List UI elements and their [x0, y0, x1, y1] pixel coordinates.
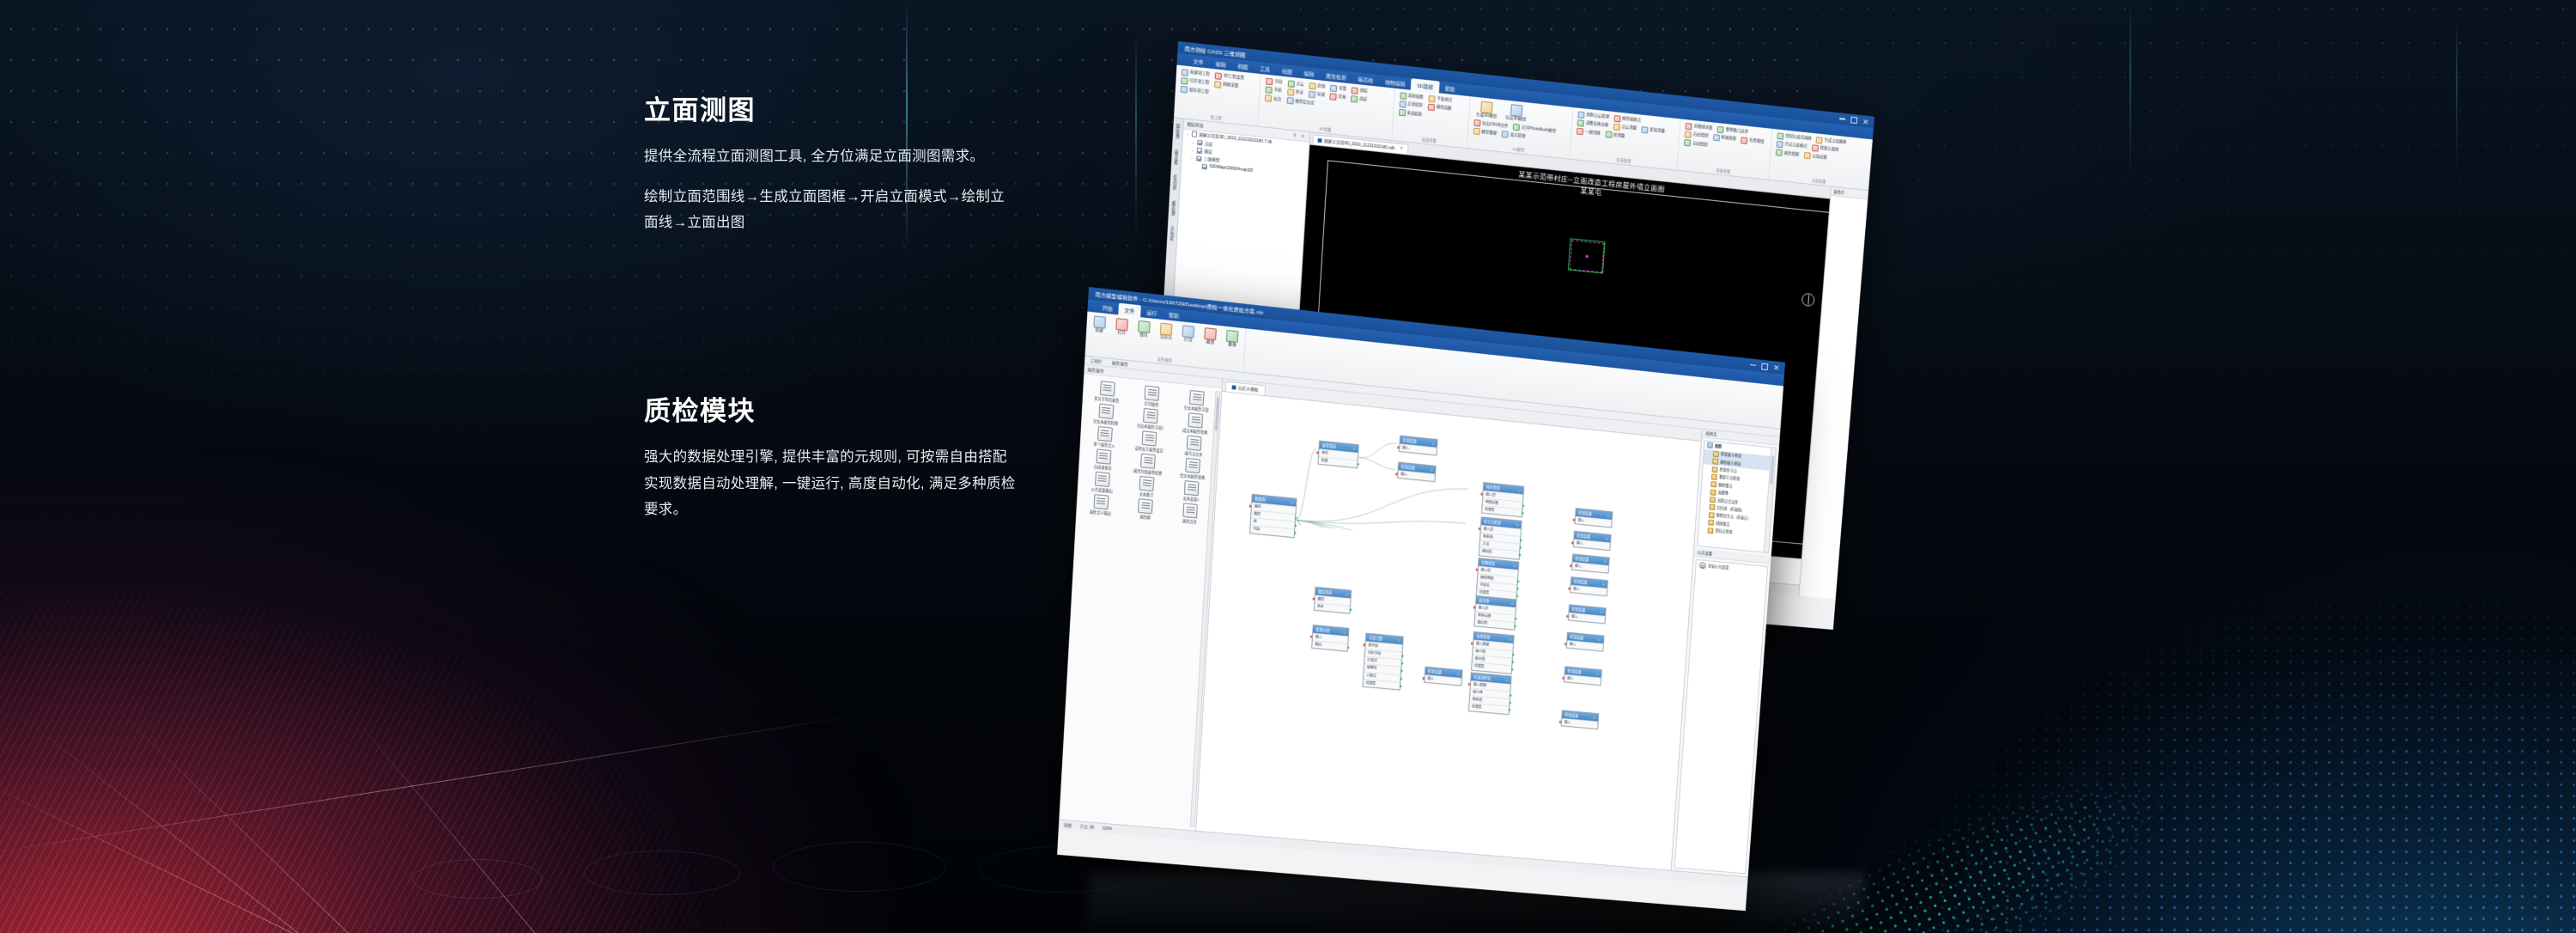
- input-port[interactable]: [1564, 643, 1567, 646]
- output-port[interactable]: [1511, 668, 1514, 672]
- flow-node-n20[interactable]: 检查结果◇输入: [1564, 667, 1602, 686]
- ribbon-item-打印[interactable]: 打印: [1180, 324, 1198, 345]
- tool-icon: [1185, 458, 1200, 473]
- flow-node-n12[interactable]: 字段计算◇源字段目标字段计算式取整项小数位结果集: [1363, 633, 1404, 691]
- checkbox[interactable]: [1196, 148, 1202, 154]
- flow-node-n16[interactable]: 检查结果◇输入: [1571, 554, 1610, 574]
- flow-node-n18[interactable]: 检查结果◇输入: [1568, 605, 1607, 625]
- item-icon: [1428, 95, 1435, 102]
- pin-close-icons[interactable]: ⚲ ✕: [1293, 132, 1306, 138]
- flow-node-n0[interactable]: 数据源◇路径图层表字段: [1249, 494, 1297, 538]
- node-collapse-icon[interactable]: ◇: [1598, 637, 1601, 642]
- rule-label: 删除重点: [1718, 483, 1732, 489]
- tool-icon: [1184, 480, 1200, 496]
- tool-label: 分文本属性字段1: [1137, 424, 1164, 430]
- node-collapse-icon[interactable]: ◇: [1593, 716, 1595, 720]
- qc-tool-panel[interactable]: 属性操作 区分字符名属性打印属性分文本属性字段分文本属性转换分文本属性字段1成文…: [1059, 364, 1223, 830]
- tool-属性合并[interactable]: 属性合并: [1167, 502, 1212, 526]
- item-icon: [1181, 86, 1188, 94]
- tool-多个属性合入[interactable]: 多个属性合入: [1082, 424, 1128, 449]
- input-port[interactable]: [1422, 677, 1425, 680]
- output-port[interactable]: [1522, 512, 1524, 515]
- ribbon-item-布置重绘[interactable]: 布置重绘: [1740, 137, 1765, 147]
- output-port[interactable]: [1295, 516, 1297, 520]
- ribbon-item-面层[interactable]: 面层: [1350, 95, 1368, 104]
- tool-自动更新名[interactable]: 自动更新名: [1080, 448, 1127, 473]
- output-port[interactable]: [1512, 653, 1515, 656]
- item-icon: [1329, 93, 1336, 101]
- ribbon-item-新建[interactable]: 新建: [1091, 314, 1109, 335]
- node-collapse-icon[interactable]: ◇: [1516, 522, 1518, 527]
- ribbon-item-label: 多面投影: [1406, 111, 1422, 116]
- item-icon: [1286, 97, 1293, 105]
- output-port[interactable]: [1400, 677, 1403, 680]
- node-collapse-icon[interactable]: ◇: [1397, 638, 1400, 643]
- ribbon-item-label: 打印: [1184, 338, 1193, 344]
- tool-label: 属性定义输出: [1090, 510, 1111, 516]
- close-icon[interactable]: ✕: [1400, 146, 1403, 151]
- flow-node-title: 面重叠: [1479, 598, 1489, 604]
- item-icon: [1686, 123, 1692, 130]
- item-icon: [1804, 152, 1811, 159]
- item-icon: [1160, 323, 1173, 336]
- cad-layer-panel-title: 图层列表: [1187, 121, 1203, 129]
- tool-label: 属性合并: [1182, 519, 1197, 524]
- ribbon-item-label: 模型定位库: [1295, 100, 1315, 106]
- chevron-down-icon[interactable]: ⌄: [1190, 155, 1194, 160]
- input-port[interactable]: [1480, 492, 1483, 496]
- node-collapse-icon[interactable]: ◇: [1513, 564, 1516, 568]
- ribbon-item-网络采集[interactable]: 网络采集: [1213, 80, 1240, 90]
- tool-编号点合并[interactable]: 编号点合并: [1171, 434, 1217, 459]
- item-icon: [1613, 115, 1620, 123]
- qc-tool-grid[interactable]: 区分字符名属性打印属性分文本属性字段分文本属性转换分文本属性字段1成文本属性转换…: [1059, 374, 1221, 830]
- tool-label: 区分字符名属性: [1094, 396, 1119, 403]
- ribbon-item-属性绘图[interactable]: 属性绘图: [1775, 149, 1800, 159]
- ribbon-item-label: 采集: [1339, 87, 1346, 91]
- close-icon[interactable]: [1862, 119, 1868, 125]
- node-collapse-icon[interactable]: ◇: [1352, 447, 1355, 451]
- node-collapse-icon[interactable]: ◇: [1291, 500, 1293, 504]
- ribbon-item-显示管理[interactable]: 显示管理: [1501, 131, 1527, 141]
- node-collapse-icon[interactable]: ◇: [1343, 630, 1346, 634]
- ribbon-item-label: 重置檐口边界: [1725, 128, 1747, 134]
- output-port[interactable]: [1510, 701, 1512, 704]
- view-navigator-icon[interactable]: [1801, 292, 1815, 307]
- ribbon-item-距离测量[interactable]: 距离测量: [1641, 125, 1667, 136]
- ribbon-item-label: 导线: [1317, 93, 1325, 97]
- tool-文本数字[interactable]: 文本数字: [1124, 475, 1170, 500]
- feature-block-elevation: 立面测图 提供全流程立面测图工具, 全方位满足立面测图需求。 绘制立面范围线→生…: [644, 95, 1018, 236]
- item-icon: [1510, 104, 1522, 117]
- input-port[interactable]: [1473, 606, 1476, 609]
- roof-plan-shape[interactable]: [1569, 240, 1604, 272]
- ribbon-item-附属轮廓[interactable]: 附属轮廓: [1712, 133, 1737, 143]
- mesh-ring: [412, 859, 543, 899]
- flow-node-n13[interactable]: 检查结果◇输入: [1424, 667, 1462, 686]
- rule-label: 线线相交: [1716, 521, 1729, 527]
- rule-icon: [1709, 512, 1715, 518]
- tool-icon: [1098, 404, 1114, 419]
- ribbon-item-label: 重做: [1228, 343, 1236, 348]
- output-port[interactable]: [1520, 546, 1522, 550]
- ribbon-item-label: 正射投影: [1407, 103, 1423, 108]
- status-item[interactable]: 100%: [1103, 826, 1113, 832]
- input-port[interactable]: [1476, 568, 1479, 571]
- feature-block-quality: 质检模块 强大的数据处理引擎, 提供丰富的元规则, 可按需自由搭配实现数据自动处…: [644, 395, 1018, 523]
- maximize-icon[interactable]: [1850, 117, 1857, 124]
- ribbon-item-label: 标注: [1273, 97, 1281, 101]
- tool-icon: [1096, 449, 1111, 465]
- item-icon: [1812, 144, 1819, 151]
- node-collapse-icon[interactable]: ◇: [1431, 441, 1434, 445]
- output-port[interactable]: [1517, 580, 1520, 583]
- tool-icon: [1182, 503, 1198, 519]
- node-collapse-icon[interactable]: ◇: [1601, 610, 1603, 614]
- tool-label: 属性刷: [1139, 515, 1151, 520]
- item-icon: [1266, 77, 1273, 85]
- mesh-ring: [584, 851, 740, 895]
- node-collapse-icon[interactable]: ◇: [1605, 536, 1607, 540]
- item-icon: [1777, 132, 1784, 139]
- checkbox[interactable]: [1191, 131, 1197, 137]
- ribbon-item-label: 开启立面模式: [1784, 143, 1807, 149]
- tool-label: 属性分类属性转换: [1133, 469, 1162, 476]
- chevron-down-icon[interactable]: ⌄: [1191, 148, 1194, 152]
- flow-node-n19[interactable]: 检查结果◇输入: [1566, 632, 1605, 652]
- ribbon-item-label: 导出OSGB文件: [1482, 122, 1509, 129]
- item-icon: [1513, 124, 1520, 131]
- status-item[interactable]: 节点: 28: [1080, 824, 1095, 830]
- output-port[interactable]: [1515, 617, 1517, 620]
- ribbon-item-label: 打开项工程: [1189, 79, 1209, 85]
- ribbon-item-label: 打开: [1117, 332, 1126, 337]
- output-port[interactable]: [1514, 625, 1516, 628]
- ribbon-item-模型重建[interactable]: 模型重建: [1472, 127, 1498, 137]
- node-collapse-icon[interactable]: ◇: [1604, 559, 1607, 564]
- output-port[interactable]: [1347, 646, 1350, 649]
- tool-icon: [1141, 454, 1157, 469]
- flow-node-n17[interactable]: 检查结果◇输入: [1570, 576, 1608, 596]
- ribbon-item-label: 自动绘制: [1692, 142, 1708, 147]
- output-port[interactable]: [1400, 669, 1403, 673]
- input-port[interactable]: [1566, 614, 1569, 618]
- flow-node-n14[interactable]: 检查结果◇输入: [1575, 508, 1613, 527]
- node-collapse-icon[interactable]: ◇: [1346, 592, 1348, 596]
- flow-node-n5[interactable]: 伪节点检查◇输入层容差值方法输出层: [1479, 517, 1522, 560]
- item-icon: [1400, 92, 1406, 100]
- ribbon-item-模型面数[interactable]: 模型面数: [1427, 103, 1453, 113]
- output-port[interactable]: [1401, 662, 1404, 665]
- item-icon: [1138, 320, 1151, 333]
- output-port[interactable]: [1401, 655, 1404, 658]
- tool-文本变量1[interactable]: 文本变量1: [1169, 479, 1214, 503]
- rule-icon: [1712, 459, 1718, 465]
- item-icon: [1816, 137, 1823, 143]
- output-port[interactable]: [1519, 553, 1522, 557]
- item-icon: [1428, 103, 1435, 111]
- node-collapse-icon[interactable]: ◇: [1430, 467, 1432, 472]
- ribbon-item-多面投影[interactable]: 多面投影: [1398, 108, 1424, 119]
- page-title: 立面测图: [644, 95, 1018, 126]
- item-icon: [1684, 139, 1691, 146]
- flow-node-n10[interactable]: 图层筛选◇图层条件: [1314, 587, 1352, 614]
- rule-icon: [1710, 497, 1716, 503]
- cad-vtab-任务列表[interactable]: 任务列表: [1172, 174, 1178, 190]
- input-port[interactable]: [1397, 446, 1400, 449]
- item-icon: [1577, 128, 1583, 136]
- output-port[interactable]: [1512, 661, 1515, 664]
- input-port[interactable]: [1568, 587, 1571, 590]
- output-port[interactable]: [1516, 587, 1519, 590]
- input-port[interactable]: [1363, 643, 1365, 647]
- flow-node-n15[interactable]: 检查结果◇输入: [1573, 531, 1612, 551]
- feature-description: 强大的数据处理引擎, 提供丰富的元规则, 可按需自由搭配实现数据自动处理解, 一…: [644, 444, 1018, 523]
- tool-分文本属性字段[interactable]: 分文本属性字段: [1174, 388, 1219, 413]
- flow-node-n6[interactable]: 重叠检查◇输入层面积阈值字段名结果集: [1476, 558, 1520, 601]
- input-port[interactable]: [1571, 541, 1574, 545]
- node-collapse-icon[interactable]: ◇: [1456, 672, 1459, 676]
- tool-icon: [1142, 431, 1157, 447]
- ribbon-item-修测量[interactable]: 修测量: [1604, 131, 1625, 140]
- item-icon: [1309, 82, 1315, 90]
- item-icon: [1399, 109, 1406, 117]
- flow-node-n4[interactable]: 拓扑检查◇输入层阈值设置结果集: [1481, 482, 1524, 517]
- tree-node-label: 线层: [1204, 148, 1212, 155]
- tool-label: 文本数字: [1139, 492, 1154, 498]
- input-port[interactable]: [1310, 635, 1313, 638]
- ribbon-item-label: 保存: [1139, 333, 1148, 338]
- flow-node-n1[interactable]: 属性筛选◇条件结果: [1317, 441, 1358, 469]
- ribbon-item-label: 立面出图: [1812, 154, 1827, 159]
- ribbon-item-重做[interactable]: 重做: [1224, 329, 1242, 350]
- checkbox[interactable]: [1197, 140, 1203, 146]
- tool-icon: [1188, 413, 1204, 429]
- flow-node-n8[interactable]: 高程检查◇输入数据最小值最大值结果集: [1471, 631, 1515, 674]
- node-collapse-icon[interactable]: ◇: [1508, 637, 1510, 642]
- node-collapse-icon[interactable]: ◇: [1510, 601, 1513, 606]
- ribbon-item-label: 布置重绘: [1749, 139, 1765, 144]
- tool-属性分类属性转换[interactable]: 属性分类属性转换: [1125, 452, 1170, 477]
- input-port[interactable]: [1395, 473, 1398, 476]
- ribbon-item-label: 面层: [1359, 98, 1367, 102]
- status-item[interactable]: 就绪: [1064, 822, 1072, 827]
- ribbon-group-项工程: 新建项工程3D工程设置打开项工程网络采集保存项工程项工程: [1174, 65, 1261, 126]
- minimize-icon[interactable]: [1750, 364, 1756, 366]
- node-collapse-icon[interactable]: ◇: [1596, 672, 1599, 676]
- output-port[interactable]: [1510, 694, 1512, 698]
- ribbon-item-label: 模型编辑点: [1622, 117, 1641, 123]
- output-port[interactable]: [1522, 504, 1525, 508]
- background-streak: [2129, 0, 2131, 180]
- ribbon-item-label: 新建: [1095, 329, 1103, 334]
- tool-公共变量输出[interactable]: 公共变量输出: [1079, 470, 1126, 495]
- qc-rule-tree[interactable]: 规则检查极小地块删除极小地块检查伪节点重复节点检查删除重点面重叠高程点合法性回头…: [1697, 441, 1777, 554]
- ribbon-item-标注[interactable]: 标注: [1264, 95, 1282, 104]
- tool-icon: [1095, 472, 1110, 487]
- ribbon-item-label: 外业: [1296, 91, 1303, 95]
- item-icon: [1309, 91, 1315, 99]
- tool-打印属性[interactable]: 打印属性: [1129, 384, 1175, 409]
- ribbon-item-撤销[interactable]: 撤销: [1201, 326, 1219, 347]
- cad-vtab-模型管理[interactable]: 模型管理: [1170, 200, 1176, 216]
- rule-icon: [1711, 473, 1717, 479]
- output-port[interactable]: [1516, 595, 1519, 598]
- ribbon-group-3D模型: 生成3D模型导出3D模型导出OSGB文件打开PhotoMesh模型模型重建显示管…: [1467, 96, 1573, 159]
- input-port[interactable]: [1479, 527, 1481, 530]
- output-port[interactable]: [1350, 608, 1352, 612]
- qc-window[interactable]: 南方模型编辑软件 - C:/Users/190729/Desktop/质检一体化…: [1057, 287, 1785, 911]
- item-icon: [1578, 111, 1585, 119]
- cad-window-controls[interactable]: [1839, 115, 1874, 125]
- ribbon-item-label: 模型面数: [1437, 106, 1452, 111]
- output-port[interactable]: [1295, 524, 1297, 527]
- promo-page: 立面测图 提供全流程立面测图工具, 全方位满足立面测图需求。 绘制立面范围线→生…: [0, 0, 2576, 933]
- item-icon: [1265, 95, 1272, 102]
- tool-icon: [1100, 381, 1115, 396]
- cad-vtab-点云列表[interactable]: 点云列表: [1170, 226, 1176, 241]
- folder-icon: [1707, 442, 1713, 448]
- ribbon-item-label: 绘制立面范围线: [1785, 135, 1812, 142]
- rule-icon: [1712, 466, 1718, 473]
- ribbon-item-自动绘制[interactable]: 自动绘制: [1683, 138, 1708, 149]
- item-icon: [1182, 69, 1188, 76]
- subbar-item-属性操作[interactable]: 属性操作: [1112, 360, 1128, 367]
- tool-区分字符名属性[interactable]: 区分字符名属性: [1084, 380, 1131, 405]
- flow-node-n7[interactable]: 面重叠◇输入层容差设置输出项: [1473, 595, 1516, 631]
- input-port[interactable]: [1559, 720, 1562, 723]
- mesh-ring: [773, 842, 946, 892]
- tool-成文本属性转换[interactable]: 成文本属性转换: [1173, 412, 1218, 436]
- cad-vtab-图层管理[interactable]: 图层管理: [1175, 124, 1181, 139]
- input-port[interactable]: [1312, 597, 1315, 601]
- output-port[interactable]: [1294, 532, 1297, 535]
- input-port[interactable]: [1570, 564, 1572, 567]
- tool-去除文字属性设定[interactable]: 去除文字属性设定: [1127, 430, 1172, 454]
- qc-window-wrapper: 南方模型编辑软件 - C:/Users/190729/Desktop/质检一体化…: [1057, 287, 1785, 911]
- minimize-icon[interactable]: [1839, 119, 1845, 120]
- output-port[interactable]: [1357, 462, 1359, 466]
- flow-node-title: 数据源: [1255, 497, 1266, 503]
- output-port[interactable]: [1520, 539, 1522, 542]
- ribbon-item-label: 网络采集: [1223, 83, 1238, 88]
- ribbon-item-房屋[interactable]: 房屋: [1328, 93, 1346, 102]
- tool-icon: [1189, 390, 1205, 406]
- flow-canvas[interactable]: 数据源◇路径图层表字段属性筛选◇条件结果检查结果◇输入检查结果◇输入拓扑检查◇输…: [1196, 392, 1701, 870]
- tool-label: 自动更新名: [1094, 465, 1112, 471]
- tool-label: 多个属性合入: [1093, 442, 1115, 448]
- close-icon[interactable]: [1773, 364, 1779, 370]
- tool-label: 文本变量1: [1183, 497, 1200, 503]
- input-port[interactable]: [1562, 676, 1564, 680]
- ribbon-item-保存[interactable]: 保存: [1135, 320, 1153, 340]
- input-port[interactable]: [1471, 642, 1473, 645]
- item-icon: [1352, 87, 1358, 95]
- output-port[interactable]: [1400, 685, 1402, 688]
- item-icon: [1577, 119, 1584, 127]
- ribbon-item-生成3D模型[interactable]: 生成3D模型: [1473, 100, 1501, 121]
- ribbon-item-导出3D模型[interactable]: 导出3D模型: [1503, 102, 1530, 124]
- flow-node-n9[interactable]: 折返线检查◇输入数据最小角容差值结果集: [1468, 673, 1512, 715]
- item-icon: [1776, 149, 1783, 155]
- item-icon: [1181, 77, 1188, 85]
- tool-icon: [1139, 476, 1155, 491]
- ribbon-group-房屋采集: 房檐线采集重置檐口边界石柱绘制附属轮廓布置重绘自动绘制房屋采集: [1678, 119, 1773, 179]
- rule-icon: [1708, 527, 1714, 534]
- ribbon-item-label: 属性绘图: [1784, 151, 1800, 156]
- node-collapse-icon[interactable]: ◇: [1602, 582, 1605, 586]
- background-streak: [2456, 17, 2458, 172]
- ribbon-item-一键切换[interactable]: 一键切换: [1576, 127, 1601, 137]
- tool-label: 成文本属性转换: [1182, 428, 1207, 435]
- ribbon-item-label: 调整实体边框: [1586, 122, 1609, 128]
- ribbon-item-label: 距离测量: [1649, 129, 1665, 134]
- subbar-item-工具栏[interactable]: 工具栏: [1090, 358, 1102, 364]
- rule-icon: [1709, 504, 1715, 510]
- feature-description: 提供全流程立面测图工具, 全方位满足立面测图需求。: [644, 143, 1018, 170]
- flow-node-n11[interactable]: 要素过滤◇输入输出: [1311, 625, 1349, 651]
- tool-分文本属性字段1[interactable]: 分文本属性字段1: [1127, 406, 1173, 431]
- ribbon-item-另存为[interactable]: 另存为: [1157, 321, 1175, 342]
- output-port[interactable]: [1509, 709, 1511, 712]
- gear-icon: [1699, 563, 1706, 570]
- ribbon-item-label: 房角: [1317, 84, 1325, 88]
- checkbox[interactable]: [1201, 164, 1207, 170]
- chevron-down-icon[interactable]: ⌄: [1186, 131, 1189, 136]
- tool-属性定义输出[interactable]: 属性定义输出: [1078, 493, 1124, 518]
- cad-vtab-属性面板[interactable]: 属性面板: [1174, 149, 1180, 164]
- rule-label: 规则: [1715, 443, 1722, 449]
- item-icon: [1777, 141, 1783, 148]
- ribbon-item-label: 点云测量: [1621, 125, 1637, 131]
- item-icon: [1115, 318, 1128, 331]
- tool-label: 编号点合并: [1185, 451, 1203, 457]
- checkbox[interactable]: [1196, 155, 1202, 162]
- maximize-icon[interactable]: [1761, 363, 1768, 369]
- ribbon-item-label: 修测量: [1613, 133, 1625, 138]
- item-icon: [1287, 88, 1294, 96]
- input-port[interactable]: [1249, 504, 1252, 508]
- ribbon-item-打开[interactable]: 打开: [1113, 317, 1131, 338]
- input-port[interactable]: [1316, 451, 1319, 454]
- tool-重文本属性转换[interactable]: 重文本属性转换: [1170, 456, 1216, 481]
- input-port[interactable]: [1468, 682, 1471, 686]
- node-collapse-icon[interactable]: ◇: [1505, 678, 1508, 682]
- node-collapse-icon[interactable]: ◇: [1607, 514, 1609, 518]
- item-icon: [1330, 84, 1337, 92]
- node-collapse-icon[interactable]: ◇: [1518, 488, 1521, 492]
- qc-window-controls[interactable]: [1750, 362, 1785, 372]
- tool-分文本属性转换[interactable]: 分文本属性转换: [1083, 402, 1129, 427]
- tool-属性刷[interactable]: 属性刷: [1122, 497, 1168, 521]
- item-icon: [1473, 128, 1479, 136]
- rule-label: 面重叠: [1718, 491, 1728, 497]
- chevron-down-icon[interactable]: ⌄: [1191, 140, 1194, 144]
- item-icon: [1287, 80, 1294, 88]
- page-title: 质检模块: [644, 395, 1018, 427]
- item-icon: [1093, 315, 1106, 328]
- ribbon-item-label: 显示管理: [1510, 133, 1525, 138]
- tree-node-label: 点层: [1205, 140, 1213, 147]
- item-icon: [1685, 131, 1692, 137]
- item-icon: [1481, 101, 1493, 113]
- input-port[interactable]: [1573, 518, 1576, 521]
- item-icon: [1205, 327, 1218, 340]
- ribbon-item-立面出图[interactable]: 立面出图: [1803, 151, 1828, 162]
- item-icon: [1351, 95, 1358, 103]
- qc-canvas-area: 自定义模板 数据源◇路径图层表字段属性筛选◇条件结果检查结果◇输入检查结果◇输入…: [1196, 379, 1702, 870]
- flow-node-n21[interactable]: 检查结果◇输入: [1561, 710, 1600, 729]
